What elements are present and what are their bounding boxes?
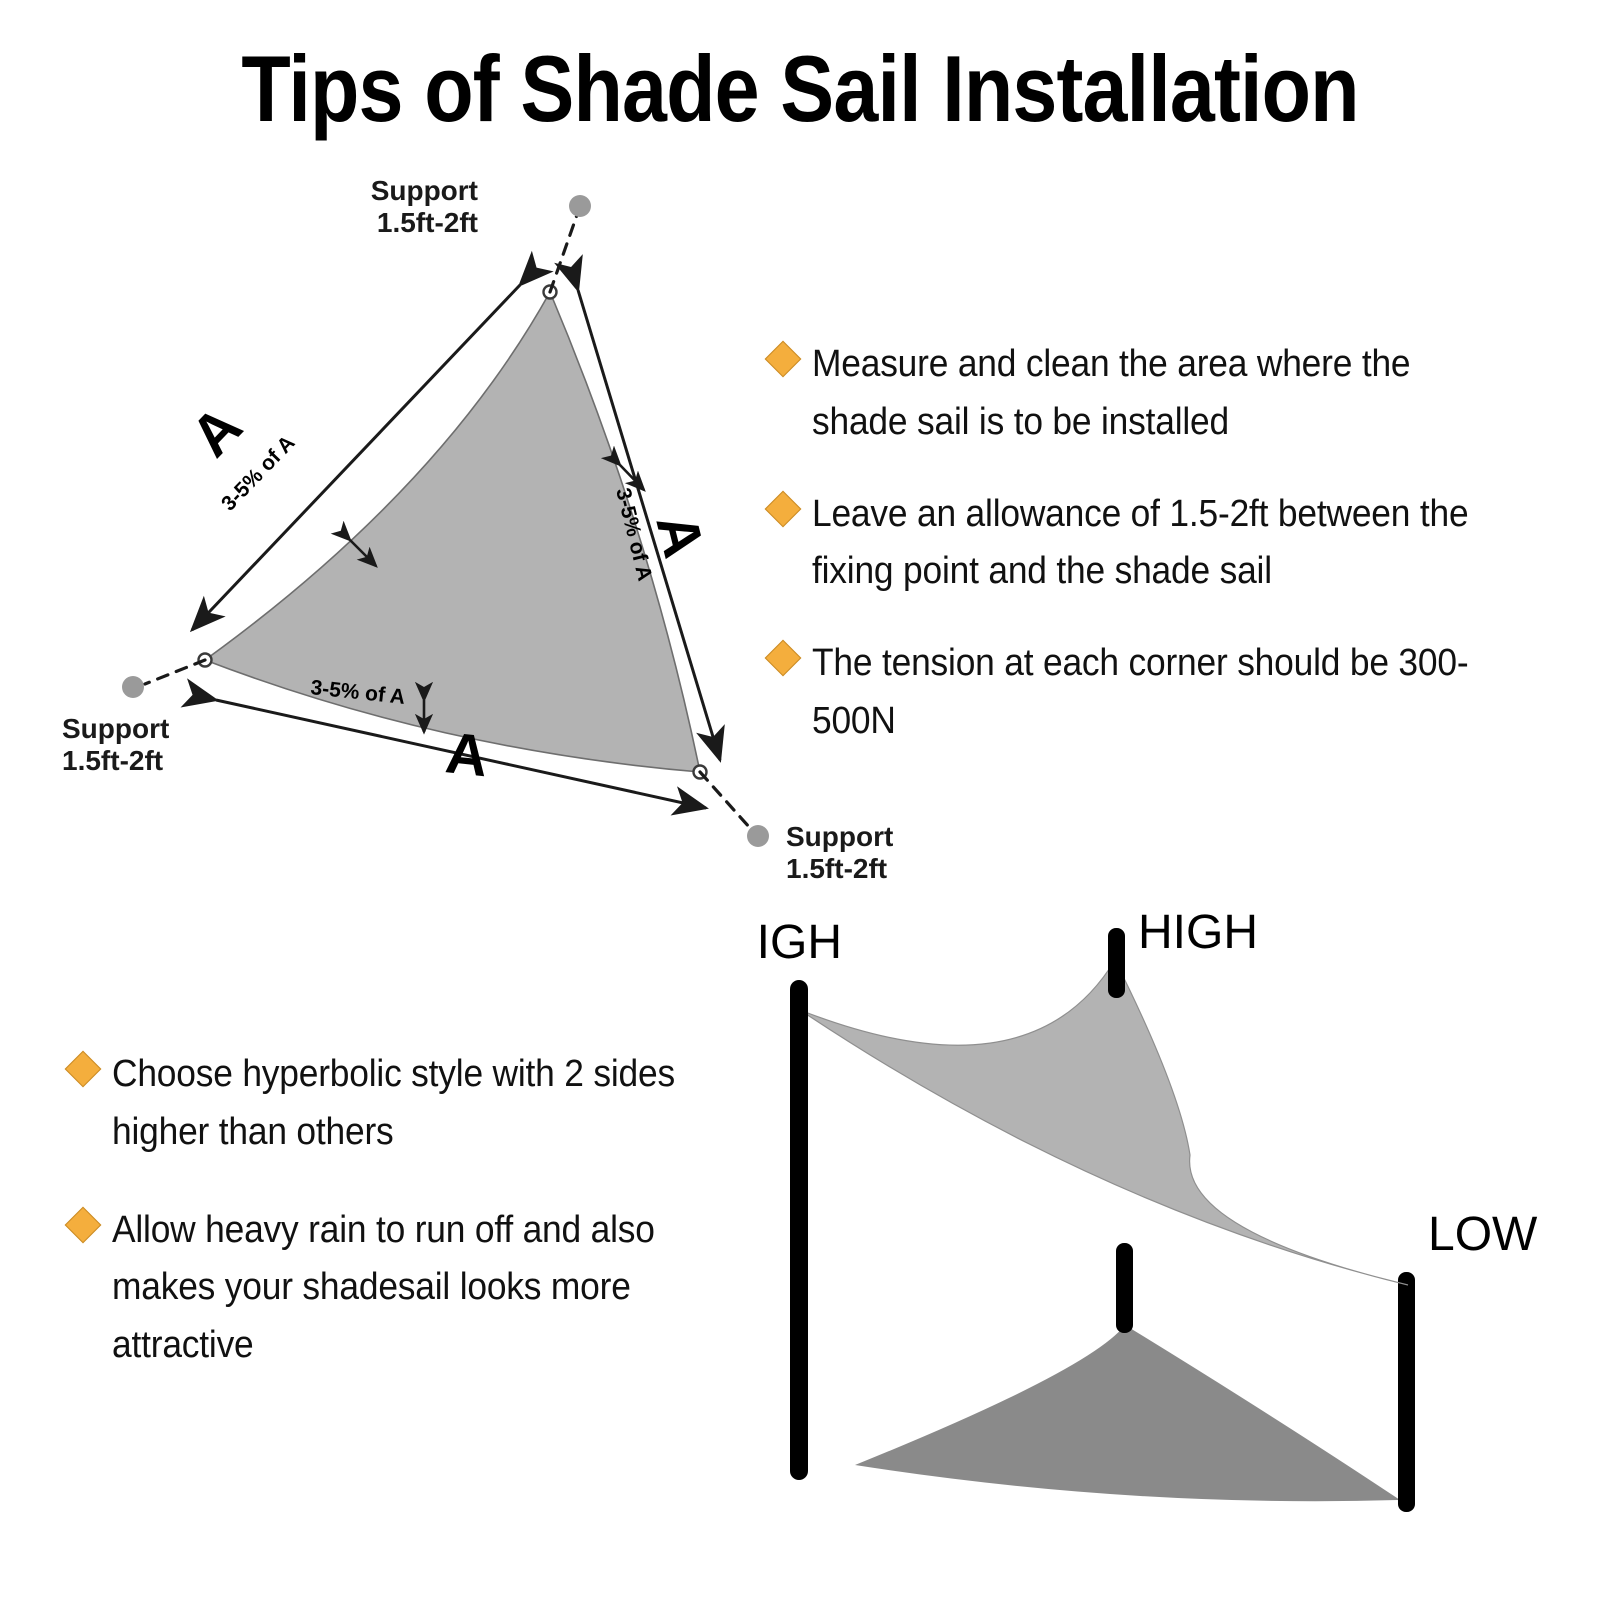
support-bottom-right: Support 1.5ft-2ft (700, 772, 893, 884)
list-item-label: Leave an allowance of 1.5-2ft between th… (812, 486, 1508, 602)
list-item-label: Allow heavy rain to run off and also mak… (112, 1202, 743, 1375)
post-label-low: LOW (1428, 1208, 1538, 1261)
sail-membrane (800, 960, 1408, 1285)
post-label-high-left: HIGH (760, 916, 842, 969)
edge-label-bottom-A: A (443, 720, 491, 789)
list-item-label: Choose hyperbolic style with 2 sides hig… (112, 1046, 743, 1162)
support-anchor-dot (747, 825, 769, 847)
tips-list-right: Measure and clean the area where the sha… (770, 336, 1560, 785)
support-bottom-right-line2: 1.5ft-2ft (786, 853, 887, 884)
diamond-bullet-icon (765, 640, 802, 677)
sail-ground-shadow (855, 1325, 1400, 1501)
page-title: Tips of Shade Sail Installation (112, 42, 1488, 136)
post-right-back (1108, 928, 1125, 998)
diamond-bullet-icon (765, 341, 802, 378)
post-middle (1116, 1243, 1133, 1333)
list-item: The tension at each corner should be 300… (770, 635, 1560, 751)
edge-label-left-A: A (179, 394, 255, 469)
post-label-high-right: HIGH (1138, 906, 1258, 959)
hyperbolic-sail-diagram: HIGH HIGH LOW (760, 900, 1590, 1540)
list-item: Measure and clean the area where the sha… (770, 336, 1560, 452)
diamond-bullet-icon (765, 490, 802, 527)
support-top-line2: 1.5ft-2ft (377, 207, 478, 238)
post-left (790, 980, 808, 1480)
tips-list-left: Choose hyperbolic style with 2 sides hig… (70, 1046, 790, 1415)
diamond-bullet-icon (65, 1206, 102, 1243)
support-bottom-left-line2: 1.5ft-2ft (62, 745, 163, 776)
list-item-label: Measure and clean the area where the sha… (812, 336, 1508, 452)
list-item: Leave an allowance of 1.5-2ft between th… (770, 486, 1560, 602)
support-bottom-left: Support 1.5ft-2ft (62, 660, 205, 776)
support-anchor-dot (569, 195, 591, 217)
diamond-bullet-icon (65, 1051, 102, 1088)
post-right-front (1398, 1272, 1415, 1512)
support-bottom-right-line1: Support (786, 821, 893, 852)
support-bottom-left-line1: Support (62, 713, 169, 744)
edge-label-right-A: A (643, 507, 716, 563)
support-top: Support 1.5ft-2ft (371, 175, 591, 292)
list-item-label: The tension at each corner should be 300… (812, 635, 1508, 751)
list-item: Choose hyperbolic style with 2 sides hig… (70, 1046, 790, 1162)
support-anchor-dot (122, 676, 144, 698)
list-item: Allow heavy rain to run off and also mak… (70, 1202, 790, 1375)
support-top-line1: Support (371, 175, 478, 206)
